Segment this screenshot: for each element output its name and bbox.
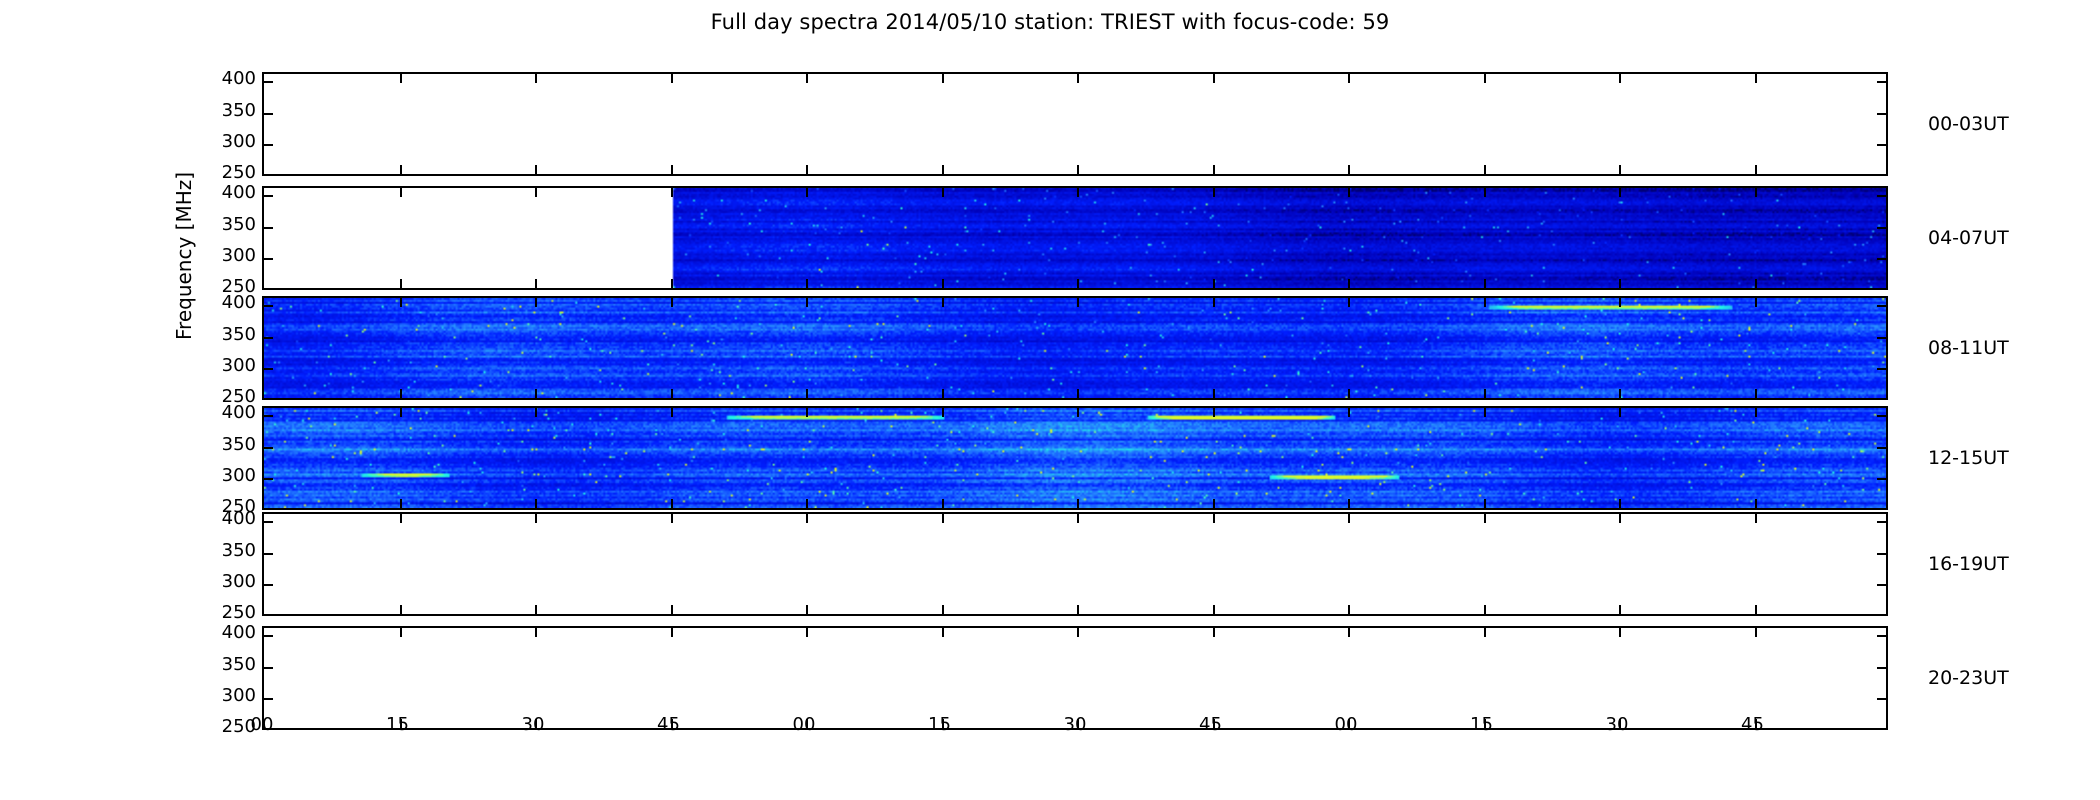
x-tick-mark: [1348, 514, 1350, 523]
x-axis-tick-labels: 001530450015304500153045: [0, 714, 2100, 744]
spectrogram-panel-04-07ut[interactable]: [262, 186, 1888, 290]
x-tick-label: 30: [1606, 714, 1629, 735]
y-axis-tick-labels: 400350300250: [196, 512, 256, 616]
x-tick-mark: [671, 188, 673, 197]
x-tick-mark: [1348, 628, 1350, 637]
y-axis-tick-labels: 400350300250: [196, 406, 256, 510]
x-tick-mark: [942, 499, 944, 508]
x-tick-mark: [806, 188, 808, 197]
x-tick-mark: [1348, 74, 1350, 83]
x-tick-mark: [806, 279, 808, 288]
x-tick-mark: [1755, 514, 1757, 523]
x-tick-mark: [535, 298, 537, 307]
x-tick-mark: [1348, 408, 1350, 417]
x-tick-mark: [1077, 188, 1079, 197]
x-tick-mark: [1348, 298, 1350, 307]
x-tick-mark: [1619, 165, 1621, 174]
y-tick-mark: [264, 113, 273, 115]
x-tick-mark: [942, 165, 944, 174]
x-tick-mark: [1484, 628, 1486, 637]
x-tick-mark: [1619, 514, 1621, 523]
x-tick-mark: [400, 188, 402, 197]
y-tick-label: 400: [196, 404, 256, 422]
x-tick-label: 15: [1470, 714, 1493, 735]
x-tick-mark: [942, 389, 944, 398]
y-tick-mark: [1877, 289, 1886, 290]
spectrogram-panel-16-19ut[interactable]: [262, 512, 1888, 616]
y-tick-mark: [264, 447, 273, 449]
y-tick-label: 250: [196, 718, 256, 736]
spectrogram-image: [264, 408, 1886, 508]
x-tick-mark: [1755, 499, 1757, 508]
y-tick-mark: [264, 227, 273, 229]
y-tick-mark: [1877, 584, 1886, 586]
x-tick-mark: [671, 165, 673, 174]
x-tick-mark: [1348, 165, 1350, 174]
y-tick-label: 400: [196, 510, 256, 528]
x-tick-mark: [1348, 188, 1350, 197]
x-tick-mark: [400, 279, 402, 288]
x-tick-mark: [535, 628, 537, 637]
x-tick-mark: [535, 279, 537, 288]
y-tick-label: 350: [196, 326, 256, 344]
x-tick-mark: [1484, 408, 1486, 417]
x-tick-mark: [1213, 165, 1215, 174]
y-tick-mark: [264, 635, 273, 637]
y-tick-mark: [1877, 227, 1886, 229]
x-tick-mark: [1755, 298, 1757, 307]
x-tick-mark: [400, 74, 402, 83]
y-tick-mark: [264, 337, 273, 339]
spectrogram-image: [264, 74, 1886, 174]
y-tick-label: 400: [196, 294, 256, 312]
x-tick-mark: [1755, 605, 1757, 614]
x-tick-mark: [1484, 188, 1486, 197]
x-tick-mark: [1077, 74, 1079, 83]
y-tick-mark: [1877, 305, 1886, 307]
x-tick-mark: [806, 165, 808, 174]
y-tick-label: 250: [196, 164, 256, 182]
x-tick-mark: [1619, 389, 1621, 398]
x-tick-mark: [400, 514, 402, 523]
y-tick-label: 300: [196, 133, 256, 151]
x-tick-mark: [535, 74, 537, 83]
x-tick-mark: [1755, 628, 1757, 637]
x-tick-mark: [942, 514, 944, 523]
y-tick-mark: [264, 521, 273, 523]
x-tick-label: 45: [657, 714, 680, 735]
y-tick-mark: [264, 305, 273, 307]
x-tick-mark: [1484, 605, 1486, 614]
x-tick-mark: [942, 279, 944, 288]
x-tick-mark: [806, 389, 808, 398]
spectrogram-image: [264, 188, 1886, 288]
spectrogram-image: [264, 628, 1886, 728]
x-tick-mark: [535, 188, 537, 197]
panel-time-range-label: 20-23UT: [1928, 667, 2009, 689]
x-tick-mark: [535, 389, 537, 398]
x-tick-mark: [942, 628, 944, 637]
x-tick-mark: [400, 165, 402, 174]
x-tick-mark: [1213, 605, 1215, 614]
y-tick-mark: [264, 399, 273, 400]
x-tick-mark: [1077, 298, 1079, 307]
x-tick-mark: [671, 389, 673, 398]
x-tick-mark: [671, 74, 673, 83]
y-tick-label: 350: [196, 216, 256, 234]
x-tick-mark: [1213, 628, 1215, 637]
panel-time-range-label: 08-11UT: [1928, 337, 2009, 359]
x-tick-mark: [1348, 389, 1350, 398]
y-axis-label: Frequency [MHz]: [172, 120, 196, 340]
x-tick-mark: [535, 408, 537, 417]
x-tick-mark: [806, 628, 808, 637]
x-tick-label: 45: [1199, 714, 1222, 735]
x-tick-mark: [400, 389, 402, 398]
y-tick-mark: [264, 553, 273, 555]
x-tick-mark: [400, 298, 402, 307]
y-tick-mark: [264, 195, 273, 197]
y-tick-mark: [1877, 399, 1886, 400]
x-tick-mark: [806, 298, 808, 307]
x-tick-mark: [535, 165, 537, 174]
x-tick-mark: [1077, 165, 1079, 174]
x-tick-label: 15: [928, 714, 951, 735]
spectrogram-image: [264, 298, 1886, 398]
y-tick-mark: [1877, 615, 1886, 616]
x-tick-mark: [1077, 628, 1079, 637]
y-tick-mark: [264, 144, 273, 146]
x-tick-mark: [1619, 298, 1621, 307]
y-tick-mark: [264, 509, 273, 510]
x-tick-label: 30: [1064, 714, 1087, 735]
y-tick-mark: [1877, 635, 1886, 637]
y-tick-mark: [1877, 144, 1886, 146]
y-tick-label: 350: [196, 656, 256, 674]
x-tick-mark: [671, 298, 673, 307]
x-tick-mark: [1484, 389, 1486, 398]
y-tick-label: 400: [196, 70, 256, 88]
x-tick-mark: [1213, 408, 1215, 417]
x-tick-mark: [1077, 514, 1079, 523]
x-tick-mark: [671, 514, 673, 523]
x-tick-mark: [1348, 499, 1350, 508]
y-tick-mark: [264, 175, 273, 176]
spectrogram-image: [264, 514, 1886, 614]
x-tick-mark: [1755, 165, 1757, 174]
x-tick-mark: [1619, 499, 1621, 508]
y-tick-mark: [264, 698, 273, 700]
x-tick-mark: [400, 628, 402, 637]
x-tick-mark: [942, 188, 944, 197]
y-tick-mark: [1877, 667, 1886, 669]
x-tick-mark: [1484, 279, 1486, 288]
y-tick-label: 300: [196, 247, 256, 265]
y-axis-tick-labels: 400350300250: [196, 186, 256, 290]
spectrogram-panel-00-03ut[interactable]: [262, 72, 1888, 176]
x-tick-mark: [1755, 389, 1757, 398]
y-tick-mark: [1877, 478, 1886, 480]
x-tick-mark: [535, 499, 537, 508]
x-tick-mark: [806, 74, 808, 83]
x-tick-mark: [535, 605, 537, 614]
x-tick-label: 15: [386, 714, 409, 735]
y-tick-mark: [264, 615, 273, 616]
x-tick-mark: [1213, 74, 1215, 83]
y-tick-mark: [1877, 509, 1886, 510]
x-tick-mark: [671, 279, 673, 288]
x-tick-mark: [1484, 514, 1486, 523]
panel-time-range-label: 04-07UT: [1928, 227, 2009, 249]
x-tick-mark: [1619, 605, 1621, 614]
y-tick-mark: [1877, 195, 1886, 197]
x-tick-mark: [671, 499, 673, 508]
x-tick-mark: [1348, 605, 1350, 614]
x-tick-mark: [1619, 408, 1621, 417]
x-tick-mark: [1619, 74, 1621, 83]
x-tick-mark: [1619, 628, 1621, 637]
y-tick-mark: [1877, 368, 1886, 370]
x-tick-mark: [671, 605, 673, 614]
panel-time-range-label: 00-03UT: [1928, 113, 2009, 135]
y-tick-mark: [1877, 415, 1886, 417]
x-tick-mark: [1213, 298, 1215, 307]
y-tick-label: 300: [196, 467, 256, 485]
y-tick-mark: [1877, 81, 1886, 83]
x-tick-mark: [806, 514, 808, 523]
spectrogram-panel-12-15ut[interactable]: [262, 406, 1888, 510]
x-tick-mark: [1755, 279, 1757, 288]
x-tick-label: 00: [1335, 714, 1358, 735]
x-tick-mark: [1348, 279, 1350, 288]
x-tick-mark: [1077, 605, 1079, 614]
x-tick-mark: [942, 605, 944, 614]
y-tick-mark: [264, 478, 273, 480]
x-tick-mark: [535, 514, 537, 523]
x-tick-mark: [942, 74, 944, 83]
y-tick-mark: [1877, 521, 1886, 523]
y-tick-label: 350: [196, 436, 256, 454]
x-tick-mark: [1077, 408, 1079, 417]
x-tick-mark: [942, 298, 944, 307]
y-tick-mark: [264, 81, 273, 83]
x-tick-mark: [1755, 188, 1757, 197]
x-tick-mark: [1484, 499, 1486, 508]
y-tick-mark: [1877, 698, 1886, 700]
page-title: Full day spectra 2014/05/10 station: TRI…: [0, 10, 2100, 34]
x-tick-mark: [400, 408, 402, 417]
spectrogram-figure: Full day spectra 2014/05/10 station: TRI…: [0, 0, 2100, 800]
y-tick-mark: [264, 584, 273, 586]
x-tick-mark: [1077, 499, 1079, 508]
panel-time-range-label: 16-19UT: [1928, 553, 2009, 575]
y-tick-mark: [1877, 113, 1886, 115]
x-tick-mark: [942, 408, 944, 417]
x-tick-mark: [806, 605, 808, 614]
x-tick-mark: [1484, 165, 1486, 174]
y-tick-label: 400: [196, 184, 256, 202]
x-tick-mark: [400, 499, 402, 508]
x-tick-mark: [1213, 279, 1215, 288]
y-tick-mark: [1877, 553, 1886, 555]
y-tick-label: 350: [196, 102, 256, 120]
y-axis-tick-labels: 400350300250: [196, 296, 256, 400]
y-tick-mark: [264, 289, 273, 290]
y-tick-label: 300: [196, 357, 256, 375]
x-tick-mark: [1755, 74, 1757, 83]
x-tick-mark: [671, 408, 673, 417]
y-tick-mark: [1877, 175, 1886, 176]
x-tick-mark: [671, 628, 673, 637]
x-tick-label: 30: [522, 714, 545, 735]
y-axis-tick-labels: 400350300250: [196, 626, 256, 730]
y-tick-label: 300: [196, 687, 256, 705]
x-tick-mark: [1619, 188, 1621, 197]
spectrogram-panel-08-11ut[interactable]: [262, 296, 1888, 400]
y-tick-label: 250: [196, 604, 256, 622]
x-tick-label: 45: [1741, 714, 1764, 735]
x-tick-mark: [806, 499, 808, 508]
y-tick-label: 400: [196, 624, 256, 642]
x-tick-mark: [1213, 188, 1215, 197]
y-tick-mark: [264, 368, 273, 370]
x-tick-mark: [1077, 279, 1079, 288]
x-tick-mark: [1484, 298, 1486, 307]
y-tick-mark: [264, 667, 273, 669]
x-tick-label: 00: [793, 714, 816, 735]
y-tick-label: 350: [196, 542, 256, 560]
y-tick-mark: [1877, 447, 1886, 449]
y-tick-mark: [264, 258, 273, 260]
y-tick-label: 300: [196, 573, 256, 591]
x-tick-mark: [1484, 74, 1486, 83]
x-tick-mark: [1213, 499, 1215, 508]
x-tick-mark: [400, 605, 402, 614]
x-tick-mark: [806, 408, 808, 417]
x-tick-mark: [1077, 389, 1079, 398]
x-tick-mark: [1213, 389, 1215, 398]
x-tick-mark: [1755, 408, 1757, 417]
panel-time-range-label: 12-15UT: [1928, 447, 2009, 469]
x-tick-mark: [1213, 514, 1215, 523]
y-tick-mark: [1877, 337, 1886, 339]
y-tick-mark: [1877, 258, 1886, 260]
x-tick-mark: [1619, 279, 1621, 288]
y-tick-mark: [264, 415, 273, 417]
y-axis-tick-labels: 400350300250: [196, 72, 256, 176]
